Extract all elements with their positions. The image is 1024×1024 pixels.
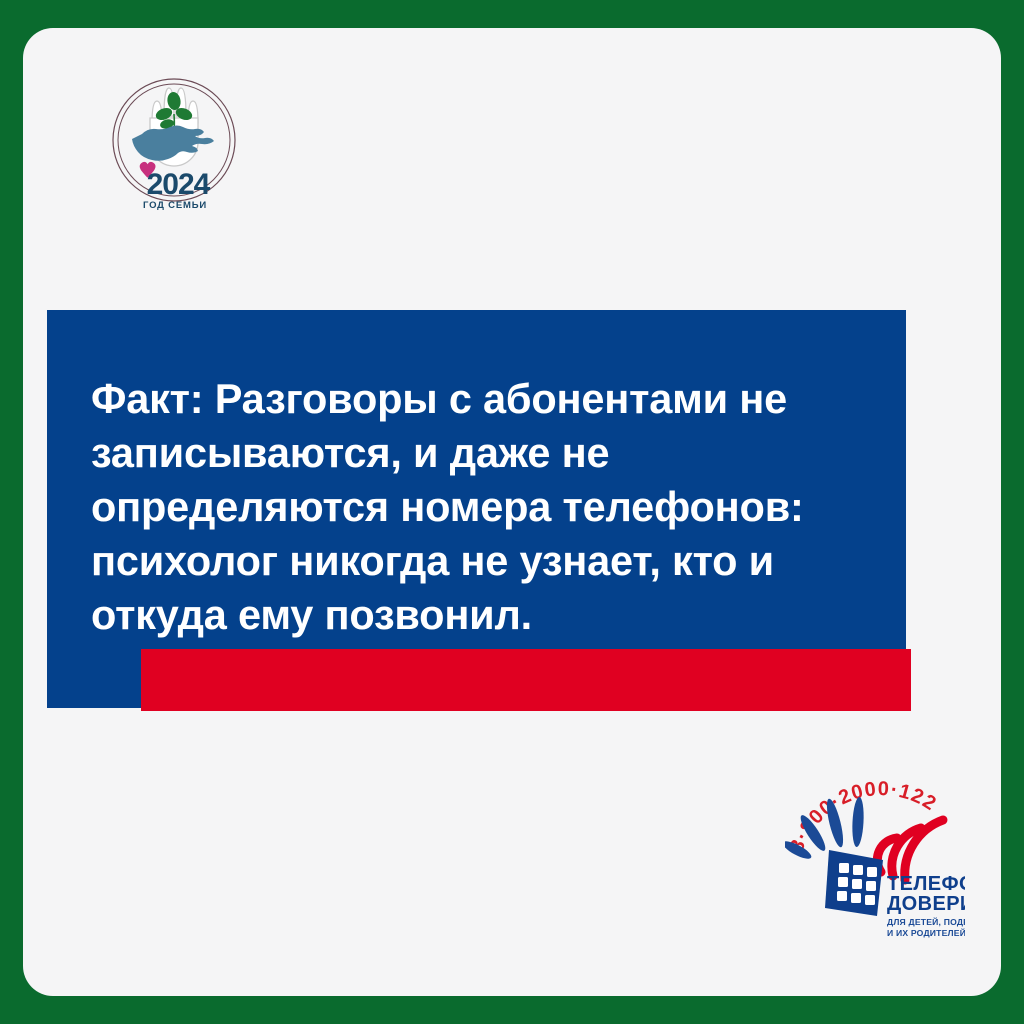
quote-text: Факт: Разговоры с абонентами не записыва… <box>91 372 892 642</box>
signal-waves-icon <box>877 820 943 880</box>
emblem-caption: ГОД СЕМЬИ <box>143 200 207 211</box>
emblem-year: 2024 <box>147 168 211 201</box>
poster-root: 2024 ГОД СЕМЬИ Факт: Разговоры с абонент… <box>0 0 1024 1024</box>
emblem-svg: 2024 ГОД СЕМЬИ <box>112 68 236 213</box>
red-accent-bar <box>141 649 911 711</box>
helpline-subtitle-line1: ДЛЯ ДЕТЕЙ, ПОДРОСТКОВ <box>887 916 965 927</box>
helpline-title-line1: ТЕЛЕФОН <box>887 873 965 895</box>
year-of-family-2024-emblem: 2024 ГОД СЕМЬИ <box>112 68 236 213</box>
helpline-logo-svg: 8·800·2000·122 <box>785 768 965 948</box>
content-card: 2024 ГОД СЕМЬИ Факт: Разговоры с абонент… <box>23 28 1001 996</box>
helpline-title-line2: ДОВЕРИЯ <box>887 893 965 915</box>
helpline-subtitle-line2: И ИХ РОДИТЕЛЕЙ <box>887 927 965 938</box>
phone-keypad-icon <box>825 850 883 916</box>
childrens-helpline-logo: 8·800·2000·122 <box>785 768 965 948</box>
